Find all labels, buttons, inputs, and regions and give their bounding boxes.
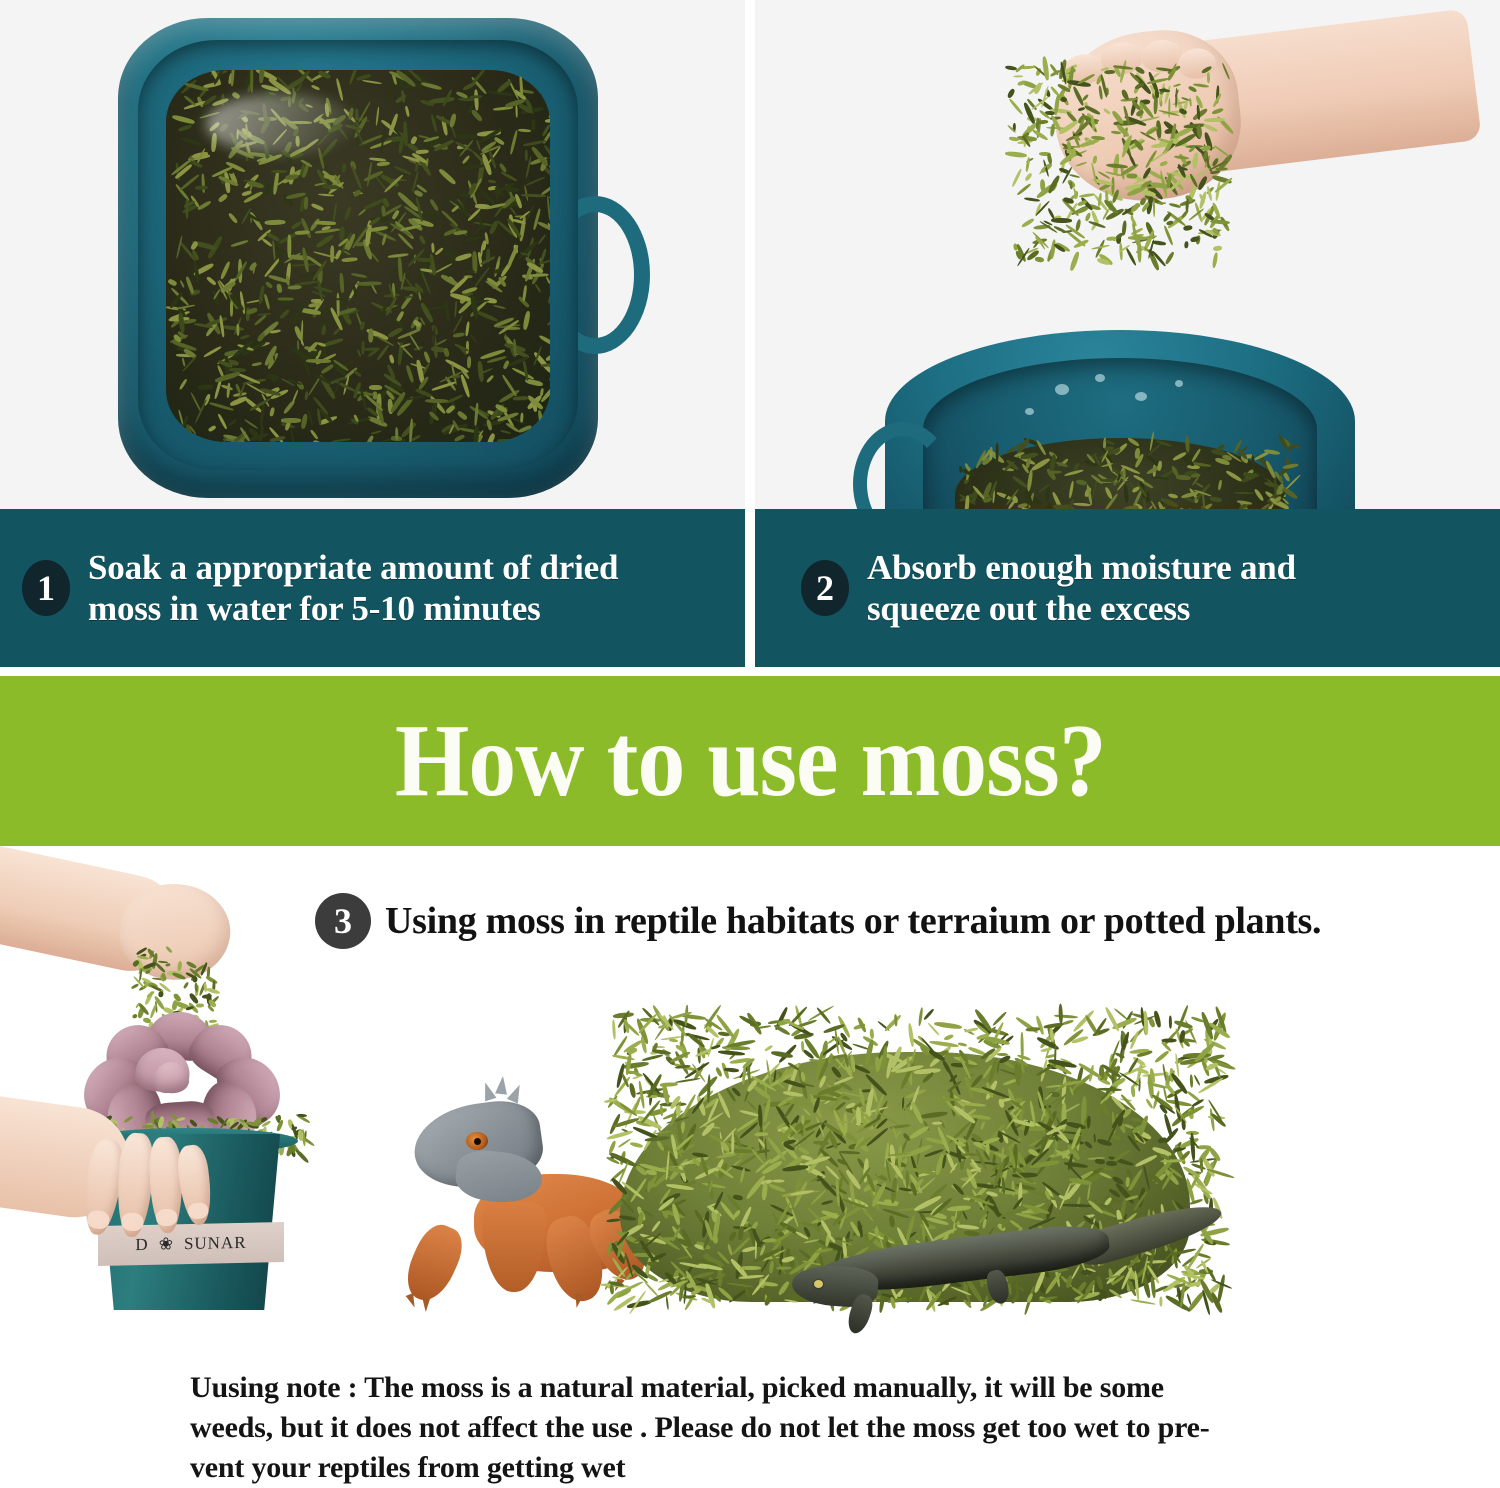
fingernail: [187, 1202, 209, 1220]
step-2-text-line-2: squeeze out the excess: [867, 588, 1296, 629]
step-1-text-line-1: Soak a appropriate amount of dried: [88, 547, 618, 588]
usage-note-line-1: Uusing note : The moss is a natural mate…: [190, 1368, 1370, 1408]
drain-basin: [845, 330, 1390, 509]
step-3-caption: 3 Using moss in reptile habitats or terr…: [315, 893, 1321, 949]
crest-spike-icon: [495, 1075, 509, 1094]
headline-banner: How to use moss?: [0, 676, 1500, 846]
step-1-photo: [0, 0, 745, 509]
water-droplet: [1175, 380, 1183, 387]
finger: [175, 1143, 215, 1226]
claw-icon: [422, 1298, 430, 1312]
basin-water: [166, 70, 550, 442]
water-droplet: [1095, 374, 1105, 382]
step-3-text: Using moss in reptile habitats or terrai…: [385, 899, 1321, 943]
newt-figure: [792, 1208, 1212, 1338]
step-1-text-line-2: moss in water for 5-10 minutes: [88, 588, 618, 629]
fingernail: [156, 1209, 178, 1227]
top-photo-row: [0, 0, 1500, 509]
soaking-basin: [108, 18, 628, 498]
step-2-caption: 2 Absorb enough moisture and squeeze out…: [755, 509, 1500, 667]
fingernail: [86, 1209, 110, 1230]
water-droplet: [1135, 392, 1147, 401]
squeezing-hand: [905, 10, 1465, 300]
step-1-caption: 1 Soak a appropriate amount of dried mos…: [0, 509, 745, 667]
iguana-pupil: [474, 1138, 481, 1145]
step-2-photo: [755, 0, 1500, 509]
water-droplet: [1055, 384, 1069, 395]
usage-note: Uusing note : The moss is a natural mate…: [190, 1368, 1370, 1488]
photo-divider: [745, 0, 755, 509]
fingernail: [121, 1212, 144, 1231]
water-droplet: [1025, 408, 1034, 415]
step-2-text: Absorb enough moisture and squeeze out t…: [867, 547, 1296, 630]
newt-eye: [814, 1280, 823, 1288]
finger: [148, 1136, 183, 1233]
usage-note-line-2: weeds, but it does not affect the use . …: [190, 1408, 1370, 1448]
step-2-badge: 2: [801, 560, 849, 616]
squeezed-moss: [1005, 65, 1220, 260]
pot-holding-hand: [0, 1085, 210, 1285]
step-2-text-line-1: Absorb enough moisture and: [867, 547, 1296, 588]
claw-icon: [573, 1293, 584, 1308]
step-caption-row: 1 Soak a appropriate amount of dried mos…: [0, 509, 1500, 667]
step-3-badge: 3: [315, 893, 371, 949]
usage-note-line-3: vent your reptiles from getting wet: [190, 1448, 1370, 1488]
water-sheen: [206, 94, 356, 154]
iguana-dewlap: [482, 1202, 546, 1292]
step-1-badge: 1: [22, 560, 70, 616]
step-1-text: Soak a appropriate amount of dried moss …: [88, 547, 618, 630]
page-title: How to use moss?: [395, 709, 1106, 813]
